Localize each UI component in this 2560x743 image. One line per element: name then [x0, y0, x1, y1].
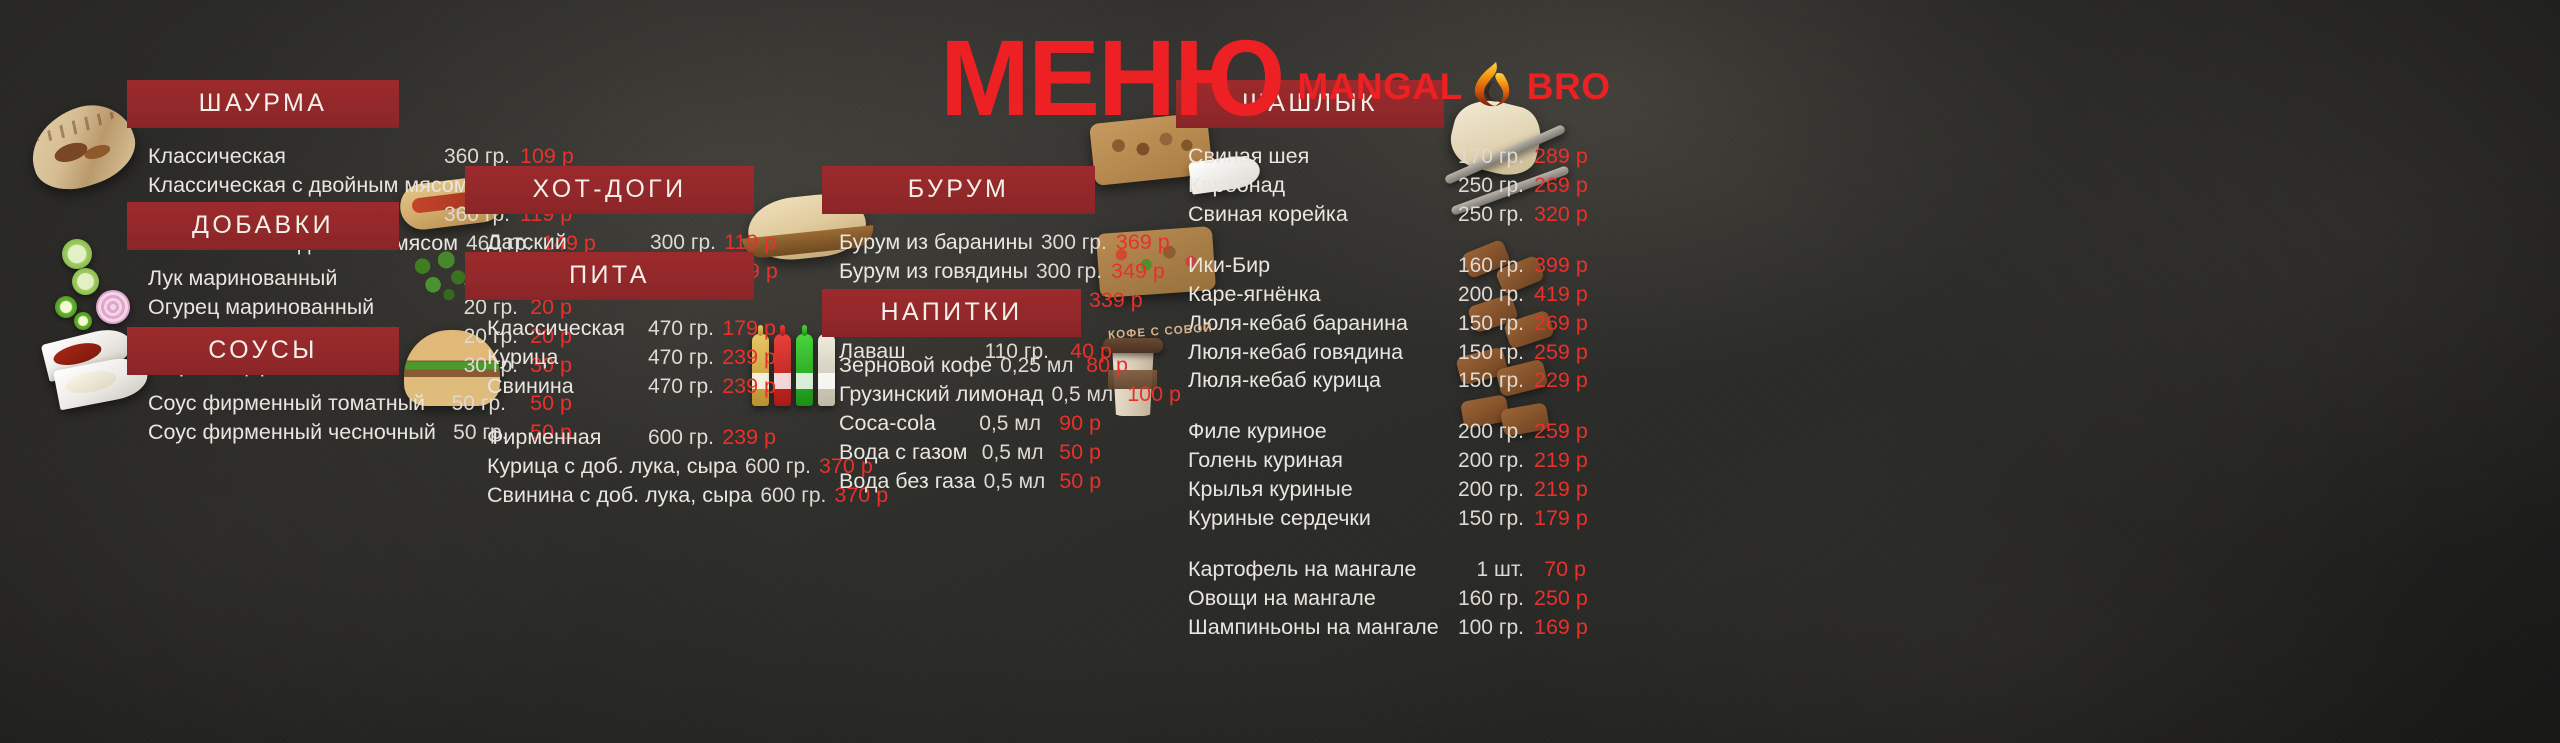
menu-item-weight: 0,5 мл — [1051, 381, 1113, 409]
menu-item-weight: 470 гр. — [638, 344, 714, 372]
cucumber-slice-photo — [72, 268, 99, 295]
menu-item-weight: 250 гр. — [1452, 201, 1524, 229]
menu-item-row: Вода с газом0,5 мл50 р — [839, 438, 1101, 467]
menu-item-price: 229 р — [1534, 366, 1586, 395]
menu-board: МЕНЮ MANGAL BRO КОФЕ С СОБ — [0, 0, 2560, 743]
menu-item-row: Крылья куриные200 гр.219 р — [1188, 475, 1586, 504]
section-napitki: НАПИТКИЗерновой кофе0,25 мл80 рГрузински… — [822, 289, 1081, 496]
menu-item-name: Курица — [487, 343, 558, 372]
menu-item-price: 70 р — [1534, 555, 1586, 584]
menu-item-price: 320 р — [1534, 200, 1586, 229]
section-header-sousy: СОУСЫ — [127, 327, 399, 375]
menu-item-row: Курица470 гр.239 р — [487, 343, 776, 372]
menu-item-price: 219 р — [1534, 475, 1586, 504]
menu-item-price: 179 р — [722, 314, 776, 343]
menu-item-row: Грузинский лимонад0,5 мл100 р — [839, 380, 1101, 409]
menu-item-price: 369 р — [1116, 228, 1170, 257]
menu-item-price: 100 р — [1127, 380, 1173, 409]
menu-item-weight: 470 гр. — [638, 373, 714, 401]
section-items-shashlyk: Свиная шея170 гр.289 рКарбонад250 гр.269… — [1176, 128, 1586, 642]
jalapeno-slice-photo — [74, 312, 92, 330]
menu-item-weight: 150 гр. — [1452, 505, 1524, 533]
menu-item-name: Голень куриная — [1188, 446, 1343, 475]
menu-item-row: Фирменная600 гр.239 р — [487, 423, 776, 452]
menu-item-weight: 200 гр. — [1452, 281, 1524, 309]
tomato-sauce-boat-photo — [41, 324, 136, 382]
item-group-spacer — [1188, 533, 1586, 555]
menu-item-name: Ики-Бир — [1188, 251, 1270, 280]
menu-item-row: Шампиньоны на мангале100 гр.169 р — [1188, 613, 1586, 642]
onion-ring-photo — [96, 290, 130, 324]
brand-word-bro: BRO — [1527, 66, 1611, 108]
item-group-spacer — [1188, 229, 1586, 251]
menu-item-price: 50 р — [1058, 438, 1101, 467]
menu-item-weight: 150 гр. — [1452, 367, 1524, 395]
menu-item-row: Овощи на мангале160 гр.250 р — [1188, 584, 1586, 613]
menu-item-name: Шампиньоны на мангале — [1188, 613, 1439, 642]
menu-item-weight: 200 гр. — [1452, 447, 1524, 475]
menu-item-row: Свиная шея170 гр.289 р — [1188, 142, 1586, 171]
menu-item-name: Классическая — [487, 314, 625, 343]
menu-item-price: 289 р — [1534, 142, 1586, 171]
brand-word-mangal: MANGAL — [1297, 66, 1462, 108]
menu-item-row: Люля-кебаб курица150 гр.229 р — [1188, 366, 1586, 395]
menu-item-weight: 0,25 мл — [1000, 352, 1072, 380]
menu-item-weight: 0,5 мл — [984, 468, 1046, 496]
menu-item-row: Бурум из баранины300 гр.369 р — [839, 228, 1112, 257]
menu-item-price: 169 р — [1534, 613, 1586, 642]
section-shashlyk: ШАШЛЫКСвиная шея170 гр.289 рКарбонад250 … — [1176, 80, 1444, 642]
menu-item-weight: 600 гр. — [760, 482, 826, 510]
menu-item-name: Крылья куриные — [1188, 475, 1353, 504]
menu-item-name: Свинина — [487, 372, 574, 401]
menu-item-name: Люля-кебаб курица — [1188, 366, 1381, 395]
menu-item-price: 399 р — [1534, 251, 1586, 280]
menu-item-weight: 170 гр. — [1452, 143, 1524, 171]
menu-item-weight: 600 гр. — [638, 424, 714, 452]
section-header-napitki: НАПИТКИ — [822, 289, 1081, 337]
shawarma-photo — [21, 94, 145, 201]
menu-item-row: Каре-ягнёнка200 гр.419 р — [1188, 280, 1586, 309]
menu-item-price: 80 р — [1086, 351, 1128, 380]
menu-item-row: Ики-Бир160 гр.399 р — [1188, 251, 1586, 280]
menu-item-name: Соус фирменный чесночный — [148, 418, 436, 447]
menu-item-weight: 160 гр. — [1452, 252, 1524, 280]
menu-item-weight: 100 гр. — [1452, 614, 1524, 642]
menu-item-row: Люля-кебаб говядина150 гр.259 р — [1188, 338, 1586, 367]
menu-item-name: Бурум из говядины — [839, 257, 1028, 286]
menu-item-name: Coca-cola — [839, 409, 936, 438]
menu-item-name: Классическая — [148, 142, 286, 171]
page-title: МЕНЮ — [940, 28, 1283, 127]
menu-item-name: Классическая с двойным мясом — [148, 171, 469, 200]
section-items-pita: Классическая470 гр.179 рКурица470 гр.239… — [465, 300, 776, 510]
menu-title-block: МЕНЮ MANGAL BRO — [940, 28, 1610, 127]
menu-item-name: Бурум из баранины — [839, 228, 1033, 257]
menu-item-weight: 250 гр. — [1452, 172, 1524, 200]
menu-item-price: 90 р — [1055, 409, 1101, 438]
menu-item-row: Карбонад250 гр.269 р — [1188, 171, 1586, 200]
menu-item-name: Свиная шея — [1188, 142, 1309, 171]
menu-item-price: 419 р — [1534, 280, 1586, 309]
menu-item-weight: 0,5 мл — [969, 410, 1041, 438]
menu-item-row: Свинина470 гр.239 р — [487, 372, 776, 401]
menu-item-name: Огурец маринованный — [148, 293, 374, 322]
menu-item-name: Вода без газа — [839, 467, 976, 496]
menu-item-price: 339 р — [1089, 286, 1143, 315]
menu-item-name: Вода с газом — [839, 438, 967, 467]
brand-logo: MANGAL BRO — [1297, 61, 1610, 113]
menu-item-row: Зерновой кофе0,25 мл80 р — [839, 351, 1101, 380]
menu-item-price: 239 р — [722, 423, 776, 452]
menu-item-name: Овощи на мангале — [1188, 584, 1376, 613]
menu-item-price: 259 р — [1534, 417, 1586, 446]
menu-item-row: Свинина с доб. лука, сыра600 гр.370 р — [487, 481, 776, 510]
menu-item-row: Куриные сердечки150 гр.179 р — [1188, 504, 1586, 533]
menu-item-name: Люля-кебаб баранина — [1188, 309, 1408, 338]
item-group-spacer — [1188, 395, 1586, 417]
menu-item-price: 259 р — [1534, 338, 1586, 367]
menu-item-price: 239 р — [722, 372, 776, 401]
menu-item-weight: 150 гр. — [1452, 339, 1524, 367]
menu-item-row: Классическая470 гр.179 р — [487, 314, 776, 343]
menu-item-price: 349 р — [1111, 257, 1165, 286]
menu-item-price: 250 р — [1534, 584, 1586, 613]
menu-item-name: Карбонад — [1188, 171, 1285, 200]
jalapeno-slice-photo — [55, 296, 77, 318]
menu-item-weight: 300 гр. — [1041, 229, 1107, 257]
cucumber-slice-photo — [62, 239, 92, 269]
menu-item-name: Свиная корейка — [1188, 200, 1348, 229]
menu-item-row: Coca-cola0,5 мл90 р — [839, 409, 1101, 438]
section-sousy: СОУСЫСоус фирменный томатный50 гр.50 рСо… — [127, 327, 399, 447]
menu-item-name: Зерновой кофе — [839, 351, 992, 380]
menu-item-weight: 300 гр. — [1036, 258, 1102, 286]
menu-item-price: 239 р — [722, 343, 776, 372]
menu-item-row: Картофель на мангале1 шт.70 р — [1188, 555, 1586, 584]
menu-item-name: Филе куриное — [1188, 417, 1327, 446]
menu-item-name: Куриные сердечки — [1188, 504, 1371, 533]
menu-item-row: Вода без газа0,5 мл50 р — [839, 467, 1101, 496]
menu-item-weight: 200 гр. — [1452, 476, 1524, 504]
flame-icon — [1472, 61, 1518, 113]
menu-item-row: Люля-кебаб баранина150 гр.269 р — [1188, 309, 1586, 338]
menu-item-row: Филе куриное200 гр.259 р — [1188, 417, 1586, 446]
menu-item-weight: 1 шт. — [1452, 556, 1524, 584]
section-items-napitki: Зерновой кофе0,25 мл80 рГрузинский лимон… — [822, 337, 1101, 496]
menu-item-name: Каре-ягнёнка — [1188, 280, 1321, 309]
menu-item-price: 269 р — [1534, 171, 1586, 200]
menu-item-name: Свинина с доб. лука, сыра — [487, 481, 752, 510]
menu-item-price: 179 р — [1534, 504, 1586, 533]
section-header-hotdog: ХОТ-ДОГИ — [465, 166, 754, 214]
menu-item-row: Голень куриная200 гр.219 р — [1188, 446, 1586, 475]
menu-item-name: Грузинский лимонад — [839, 380, 1043, 409]
menu-item-weight: 600 гр. — [745, 453, 811, 481]
menu-item-row: Свиная корейка250 гр.320 р — [1188, 200, 1586, 229]
section-header-pita: ПИТА — [465, 252, 754, 300]
section-header-burum: БУРУМ — [822, 166, 1095, 214]
menu-item-name: Люля-кебаб говядина — [1188, 338, 1403, 367]
menu-item-weight: 160 гр. — [1452, 585, 1524, 613]
menu-item-name: Соус фирменный томатный — [148, 389, 425, 418]
menu-item-price: 50 р — [1059, 467, 1101, 496]
menu-item-weight: 0,5 мл — [975, 439, 1043, 467]
section-pita: ПИТАКлассическая470 гр.179 рКурица470 гр… — [465, 252, 754, 510]
menu-item-weight: 200 гр. — [1452, 418, 1524, 446]
menu-item-name: Курица с доб. лука, сыра — [487, 452, 737, 481]
menu-item-weight: 470 гр. — [638, 315, 714, 343]
menu-item-name: Картофель на мангале — [1188, 555, 1416, 584]
section-header-shaurma: ШАУРМА — [127, 80, 399, 128]
menu-item-name: Фирменная — [487, 423, 601, 452]
item-group-spacer — [487, 401, 776, 423]
menu-item-price: 219 р — [1534, 446, 1586, 475]
menu-item-name: Лук маринованный — [148, 264, 337, 293]
menu-item-row: Бурум из говядины300 гр.349 р — [839, 257, 1112, 286]
menu-item-price: 269 р — [1534, 309, 1586, 338]
menu-item-row: Курица с доб. лука, сыра600 гр.370 р — [487, 452, 776, 481]
section-header-dobavki: ДОБАВКИ — [127, 202, 399, 250]
menu-item-weight: 150 гр. — [1452, 310, 1524, 338]
